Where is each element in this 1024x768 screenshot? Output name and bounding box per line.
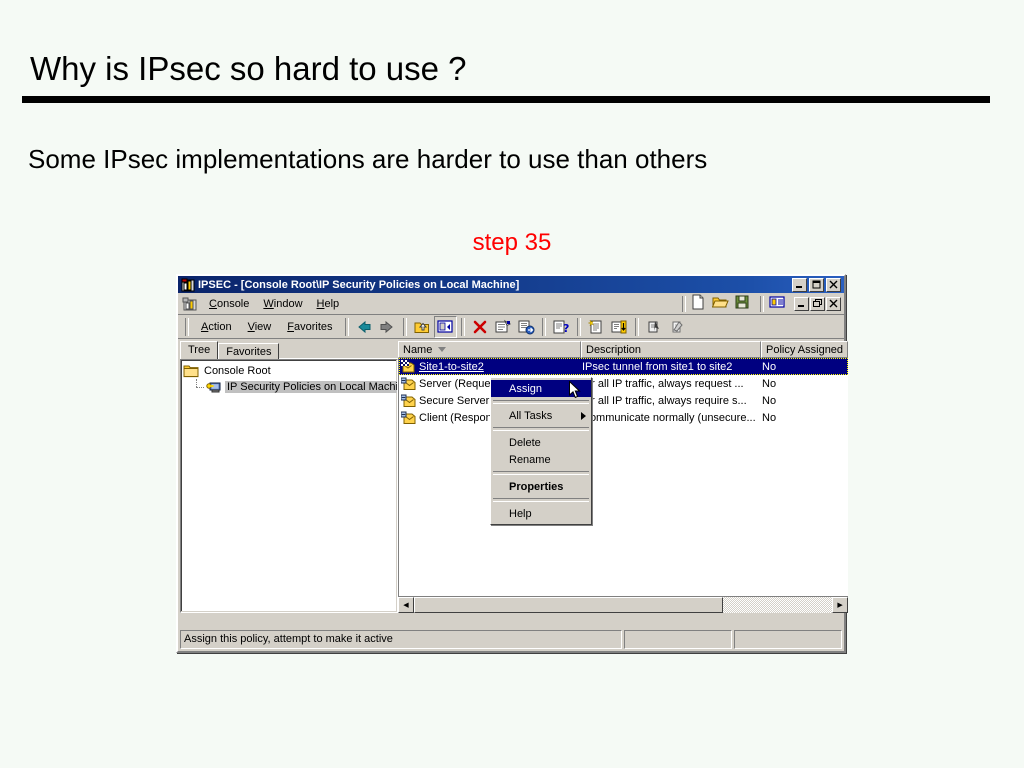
mdi-restore-button[interactable]: [810, 297, 825, 311]
menu-help[interactable]: Help: [310, 296, 347, 312]
back-arrow-icon[interactable]: [353, 316, 376, 338]
tree-item-label: Console Root: [202, 365, 273, 377]
minimize-button[interactable]: [792, 278, 807, 292]
result-pane: Name Description Policy Assigned: [398, 341, 848, 613]
status-pane-3: [734, 630, 842, 649]
save-disk-icon[interactable]: [734, 294, 756, 314]
submenu-arrow-icon: [581, 412, 586, 420]
tab-tree[interactable]: Tree: [180, 341, 218, 359]
menu-console[interactable]: CConsoleonsole: [202, 296, 256, 312]
title-divider: [22, 96, 990, 103]
scroll-left-arrow-icon[interactable]: ◀: [398, 597, 414, 613]
toolbar-menu-favorites[interactable]: Favorites: [279, 319, 340, 335]
mdi-window-buttons[interactable]: [794, 297, 841, 311]
row-policy-assigned: No: [762, 395, 832, 407]
context-menu-item-assign[interactable]: Assign: [491, 380, 591, 397]
menu-bar: CConsoleonsole Window Help: [178, 293, 844, 315]
properties-icon[interactable]: [492, 316, 515, 338]
table-row[interactable]: Site1-to-site2 IPsec tunnel from site1 t…: [399, 358, 848, 375]
close-button[interactable]: [826, 278, 841, 292]
ip-policy-icon: [401, 377, 416, 391]
horizontal-scrollbar[interactable]: ◀ ▶: [398, 597, 848, 613]
toolbar-separator-2: [403, 318, 407, 336]
toolbar-separator-1: [345, 318, 349, 336]
column-header-label: Policy Assigned: [766, 344, 843, 356]
column-header-name[interactable]: Name: [398, 341, 581, 358]
status-message: Assign this policy, attempt to make it a…: [180, 630, 622, 649]
tree-item-console-root[interactable]: Console Root: [183, 363, 395, 379]
listview-header: Name Description Policy Assigned: [398, 341, 848, 358]
context-menu-item-delete[interactable]: Delete: [491, 434, 591, 451]
tab-favorites[interactable]: Favorites: [218, 343, 279, 359]
row-policy-assigned: No: [762, 378, 832, 390]
console-icon[interactable]: [182, 296, 198, 312]
mdi-minimize-button[interactable]: [794, 297, 809, 311]
context-menu-separator: [493, 427, 589, 431]
toolbar-separator-6: [635, 318, 639, 336]
toolbar-separator-0: [185, 318, 189, 336]
listview-rows[interactable]: Site1-to-site2 IPsec tunnel from site1 t…: [398, 358, 848, 597]
column-header-label: Name: [403, 344, 432, 356]
table-row[interactable]: Server (Request Security) for all IP tra…: [399, 375, 848, 392]
menu-window[interactable]: Window: [256, 296, 309, 312]
row-description: for all IP traffic, always require s...: [582, 395, 762, 407]
new-console-icon[interactable]: [690, 294, 712, 314]
toolbar-separator-5: [577, 318, 581, 336]
edit-policy-icon[interactable]: [666, 316, 689, 338]
sort-descending-icon: [438, 347, 446, 352]
row-description: for all IP traffic, always request ...: [582, 378, 762, 390]
toolbar-menu-view[interactable]: View: [240, 319, 280, 335]
row-name: Site1-to-site2: [419, 361, 484, 373]
delete-x-icon[interactable]: [469, 316, 492, 338]
tabstrip-filler: [279, 342, 398, 359]
ip-policy-icon: [401, 394, 416, 408]
mdi-close-button[interactable]: [826, 297, 841, 311]
slide-subtitle: Some IPsec implementations are harder to…: [28, 144, 707, 175]
status-bar: Assign this policy, attempt to make it a…: [180, 630, 842, 649]
window-buttons[interactable]: [792, 278, 842, 292]
up-one-level-icon[interactable]: [411, 316, 434, 338]
ip-policy-icon: [401, 411, 416, 425]
toolbar-separator-3: [461, 318, 465, 336]
column-header-policy-assigned[interactable]: Policy Assigned: [761, 341, 848, 358]
folder-icon: [183, 364, 199, 378]
scroll-right-arrow-icon[interactable]: ▶: [832, 597, 848, 613]
manage-filter-lists-icon[interactable]: [608, 316, 631, 338]
create-ip-policy-icon[interactable]: [585, 316, 608, 338]
toolbar-menu-action[interactable]: Action: [193, 319, 240, 335]
svg-text:?: ?: [563, 322, 569, 335]
maximize-button[interactable]: [809, 278, 824, 292]
ip-policy-assigned-icon: [401, 360, 416, 374]
step-label: step 35: [0, 229, 1024, 257]
context-menu[interactable]: Assign All Tasks Delete Rename Propertie…: [490, 377, 592, 525]
context-menu-item-properties[interactable]: Properties: [491, 478, 591, 495]
menubar-separator: [682, 296, 686, 312]
console-tree[interactable]: Console Root IP Security Policies on: [180, 359, 398, 613]
toolbar-separator-4: [542, 318, 546, 336]
row-policy-assigned: No: [762, 412, 832, 424]
row-description: IPsec tunnel from site1 to site2: [582, 361, 762, 373]
show-hide-tree-icon[interactable]: [434, 316, 457, 338]
open-folder-icon[interactable]: [712, 294, 734, 314]
show-console-tree-icon[interactable]: [768, 294, 790, 314]
window-title: IPSEC - [Console Root\IP Security Polici…: [198, 279, 792, 291]
context-menu-item-label: All Tasks: [509, 410, 552, 422]
help-icon[interactable]: ?: [550, 316, 573, 338]
ip-security-policies-icon: [206, 380, 222, 394]
export-list-icon[interactable]: [515, 316, 538, 338]
context-menu-item-help[interactable]: Help: [491, 505, 591, 522]
column-header-label: Description: [586, 344, 641, 356]
context-menu-item-all-tasks[interactable]: All Tasks: [491, 407, 591, 424]
forward-arrow-icon[interactable]: [376, 316, 399, 338]
scope-pane: Tree Favorites Console Root: [180, 341, 398, 613]
unassign-policy-icon[interactable]: [643, 316, 666, 338]
tree-connector: [194, 379, 206, 395]
window-titlebar[interactable]: IPSEC - [Console Root\IP Security Polici…: [178, 276, 844, 293]
row-description: Communicate normally (unsecure...: [582, 412, 762, 424]
table-row[interactable]: Secure Server (Require Security) for all…: [399, 392, 848, 409]
table-row[interactable]: Client (Respond Only) Communicate normal…: [399, 409, 848, 426]
tree-item-ip-security-policies[interactable]: IP Security Policies on Local Machine: [183, 379, 395, 395]
context-menu-separator: [493, 498, 589, 502]
row-name-cell: Site1-to-site2: [399, 360, 582, 374]
scroll-track[interactable]: [414, 597, 832, 613]
row-policy-assigned: No: [762, 361, 832, 373]
tree-item-label: IP Security Policies on Local Machine: [225, 381, 398, 393]
menubar-separator-2: [760, 296, 764, 312]
scope-tabs: Tree Favorites: [180, 341, 398, 359]
mmc-console-icon: [181, 278, 195, 292]
page-title: Why is IPsec so hard to use ?: [30, 50, 467, 88]
scroll-thumb[interactable]: [414, 597, 723, 613]
status-pane-2: [624, 630, 732, 649]
column-header-description[interactable]: Description: [581, 341, 761, 358]
context-menu-separator: [493, 471, 589, 475]
context-menu-item-rename[interactable]: Rename: [491, 451, 591, 468]
context-menu-separator: [493, 400, 589, 404]
toolbar: Action View Favorites: [178, 315, 844, 339]
